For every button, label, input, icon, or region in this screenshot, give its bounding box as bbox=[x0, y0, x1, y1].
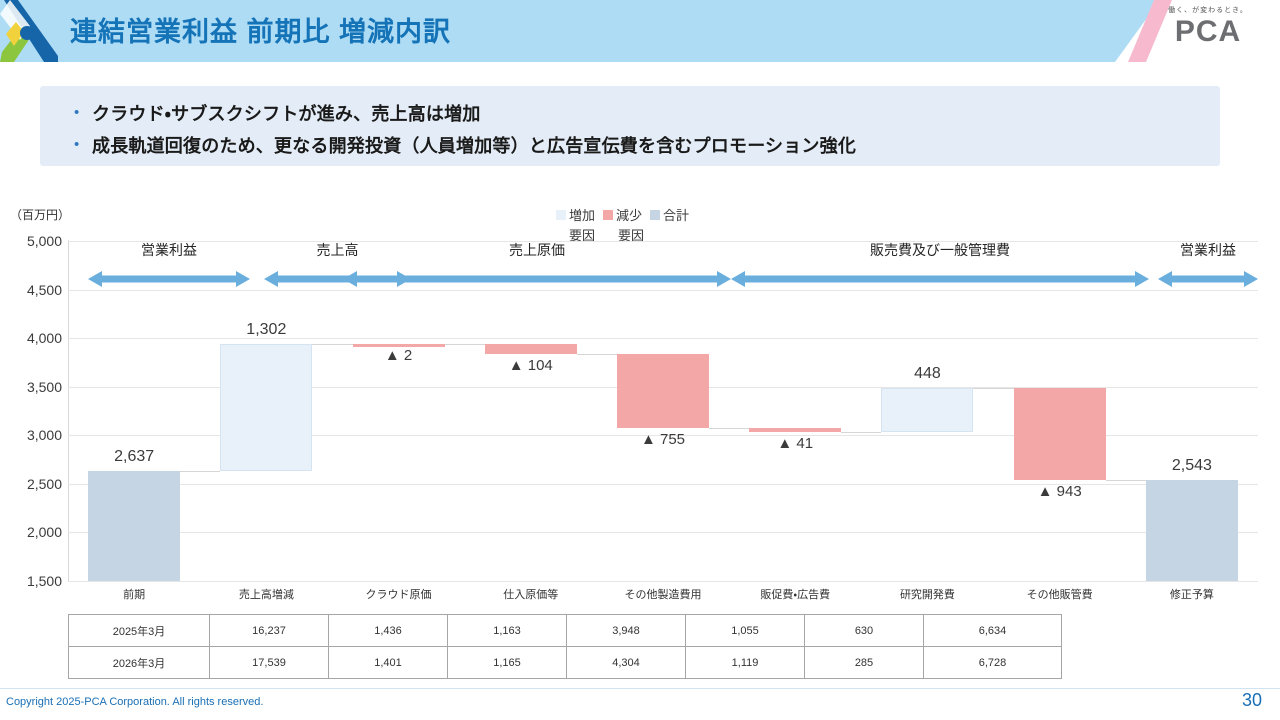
table-cell-value: 285 bbox=[805, 647, 924, 679]
legend-item-increase: 増加 bbox=[556, 205, 595, 224]
waterfall-bar bbox=[1146, 480, 1238, 581]
waterfall-chart: 5,0004,5004,0003,5003,0002,5002,0001,500… bbox=[68, 240, 1258, 582]
waterfall-bar bbox=[749, 428, 841, 432]
waterfall-bar bbox=[617, 354, 709, 427]
legend-label-total: 合計 bbox=[663, 205, 689, 224]
bullet-dot-icon: • bbox=[74, 103, 92, 123]
x-axis-label: 修正予算 bbox=[1126, 586, 1258, 602]
waterfall-bar bbox=[485, 344, 577, 354]
x-axis-label: その他販管費 bbox=[994, 586, 1126, 602]
waterfall-bar bbox=[88, 471, 180, 581]
table-cell-value: 1,055 bbox=[686, 615, 805, 647]
y-axis-line bbox=[68, 240, 69, 582]
waterfall-bar bbox=[353, 344, 445, 347]
waterfall-connector bbox=[312, 344, 352, 345]
waterfall-bar bbox=[881, 388, 973, 432]
table-row: 2025年3月16,2371,4361,1633,9481,0556306,63… bbox=[69, 615, 1062, 647]
x-axis-label: 前期 bbox=[68, 586, 200, 602]
logo-wordmark: PCA bbox=[1152, 16, 1264, 48]
bullet-text: クラウド・サブスクシフトが進み、売上高は増加 bbox=[92, 100, 481, 126]
table-cell-value: 1,165 bbox=[448, 647, 567, 679]
bar-value-label: 1,302 bbox=[190, 321, 342, 339]
y-axis-tick-label: 3,000 bbox=[6, 427, 62, 443]
bar-value-label: 2,637 bbox=[58, 448, 210, 466]
gridline bbox=[68, 290, 1258, 291]
chart-unit-label: （百万円） bbox=[10, 206, 70, 223]
bar-value-label: ▲ 41 bbox=[719, 435, 871, 452]
summary-callout-box: • クラウド・サブスクシフトが進み、売上高は増加 • 成長軌道回復のため、更なる… bbox=[40, 86, 1220, 166]
y-axis-tick-label: 2,500 bbox=[6, 476, 62, 492]
legend-swatch-total bbox=[650, 210, 660, 220]
bullet-item: • 成長軌道回復のため、更なる開発投資（人員増加等）と広告宣伝費を含むプロモーシ… bbox=[74, 132, 856, 158]
legend-label-decrease: 減少 bbox=[616, 205, 642, 224]
legend-item-total: 合計 bbox=[650, 205, 689, 224]
legend-label-increase: 増加 bbox=[569, 205, 595, 224]
waterfall-connector bbox=[973, 388, 1013, 389]
x-axis-label: 販促費・広告費 bbox=[729, 586, 861, 602]
waterfall-connector bbox=[841, 432, 881, 433]
y-axis-tick-label: 2,000 bbox=[6, 524, 62, 540]
category-band-label: 営業利益 bbox=[1158, 240, 1258, 260]
footer-divider bbox=[0, 688, 1280, 689]
y-axis-tick-label: 1,500 bbox=[6, 573, 62, 589]
table-cell-value: 4,304 bbox=[567, 647, 686, 679]
bullet-dot-icon: • bbox=[74, 135, 92, 155]
bar-value-label: ▲ 104 bbox=[455, 357, 607, 374]
table-cell-value: 17,539 bbox=[210, 647, 329, 679]
bar-value-label: 2,543 bbox=[1116, 457, 1268, 475]
table-row: 2026年3月17,5391,4011,1654,3041,1192856,72… bbox=[69, 647, 1062, 679]
page-number: 30 bbox=[1242, 690, 1262, 711]
waterfall-connector bbox=[445, 344, 485, 345]
x-axis-label: 売上高増減 bbox=[200, 586, 332, 602]
waterfall-connector bbox=[1106, 480, 1146, 481]
y-axis-tick-label: 3,500 bbox=[6, 379, 62, 395]
bar-value-label: 448 bbox=[851, 365, 1003, 383]
gridline bbox=[68, 581, 1258, 582]
legend-swatch-increase bbox=[556, 210, 566, 220]
pca-x-logo-icon bbox=[0, 0, 72, 62]
bar-value-label: ▲ 2 bbox=[323, 347, 475, 364]
y-axis-tick-label: 5,000 bbox=[6, 233, 62, 249]
x-axis-label: クラウド原価 bbox=[332, 586, 464, 602]
pca-logo: 働く、が変わるとき。 PCA bbox=[1152, 6, 1264, 48]
category-band-label: 営業利益 bbox=[88, 240, 250, 260]
x-axis-label: 仕入原価等 bbox=[465, 586, 597, 602]
category-double-arrow-icon bbox=[343, 271, 731, 287]
y-axis-tick-label: 4,500 bbox=[6, 282, 62, 298]
category-band-label: 売上原価 bbox=[343, 240, 731, 260]
category-double-arrow-icon bbox=[1158, 271, 1258, 287]
x-axis-label: 研究開発費 bbox=[861, 586, 993, 602]
table-cell-value: 1,401 bbox=[329, 647, 448, 679]
y-axis-tick-label: 4,000 bbox=[6, 330, 62, 346]
bullet-item: • クラウド・サブスクシフトが進み、売上高は増加 bbox=[74, 100, 481, 126]
category-double-arrow-icon bbox=[88, 271, 250, 287]
page-title: 連結営業利益 前期比 増減内訳 bbox=[70, 10, 451, 49]
table-cell-value: 3,948 bbox=[567, 615, 686, 647]
legend-swatch-decrease bbox=[603, 210, 613, 220]
chart-legend: 増加 減少 合計 要因 要因 bbox=[556, 205, 746, 244]
bullet-text: 成長軌道回復のため、更なる開発投資（人員増加等）と広告宣伝費を含むプロモーション… bbox=[92, 132, 856, 158]
waterfall-connector bbox=[709, 428, 749, 429]
table-cell-value: 1,119 bbox=[686, 647, 805, 679]
gridline bbox=[68, 532, 1258, 533]
table-cell-value: 1,163 bbox=[448, 615, 567, 647]
table-cell-period: 2025年3月 bbox=[69, 615, 210, 647]
waterfall-bar bbox=[1014, 388, 1106, 480]
table-cell-value: 1,436 bbox=[329, 615, 448, 647]
waterfall-bar bbox=[220, 344, 312, 470]
table-cell-value: 630 bbox=[805, 615, 924, 647]
table-cell-value: 16,237 bbox=[210, 615, 329, 647]
waterfall-connector bbox=[577, 354, 617, 355]
bar-value-label: ▲ 943 bbox=[984, 483, 1136, 500]
table-cell-value: 6,634 bbox=[924, 615, 1062, 647]
x-axis-label: その他製造費用 bbox=[597, 586, 729, 602]
category-double-arrow-icon bbox=[731, 271, 1149, 287]
waterfall-connector bbox=[180, 471, 220, 472]
table-cell-period: 2026年3月 bbox=[69, 647, 210, 679]
legend-item-decrease: 減少 bbox=[603, 205, 642, 224]
table-cell-value: 6,728 bbox=[924, 647, 1062, 679]
bar-value-label: ▲ 755 bbox=[587, 431, 739, 448]
page-header: 連結営業利益 前期比 増減内訳 働く、が変わるとき。 PCA bbox=[0, 0, 1280, 62]
category-band-label: 販売費及び一般管理費 bbox=[731, 240, 1149, 260]
footer-copyright: Copyright 2025-PCA Corporation. All righ… bbox=[6, 696, 263, 708]
data-table: 2025年3月16,2371,4361,1633,9481,0556306,63… bbox=[68, 614, 1062, 679]
